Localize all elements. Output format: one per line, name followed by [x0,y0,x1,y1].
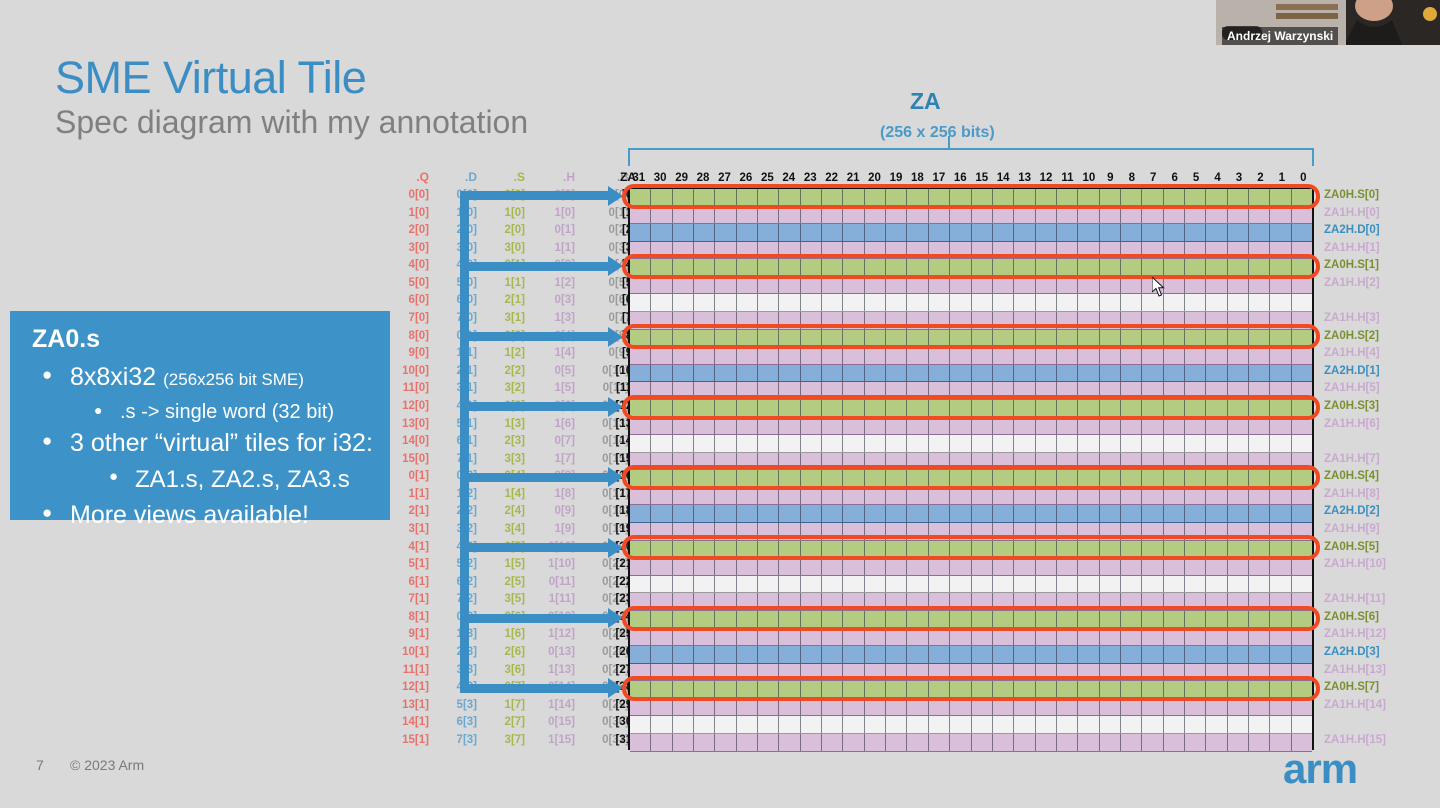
grid-cell [822,593,843,610]
spec-row: 9[0]1[1]1[2]1[4]0[9][9] [385,345,625,363]
column-number-18: 18 [907,170,928,186]
spec-row: 15[0]7[1]3[3]1[7]0[15][15] [385,451,625,469]
grid-cell [1036,259,1057,276]
grid-cell [1228,576,1249,593]
grid-cell [1185,699,1206,716]
spec-cell-h: 0[0] [531,187,575,205]
grid-cell [1100,488,1121,505]
spec-cell-s: 3[1] [485,310,525,328]
grid-cell [1249,259,1270,276]
grid-cell [737,699,758,716]
grid-cell [715,681,736,698]
spec-cell-q: 14[1] [385,714,429,732]
spec-row: 4[0]4[0]0[1]0[2]0[4][4] [385,257,625,275]
grid-cell [950,505,971,522]
grid-cell [1142,207,1163,224]
grid-cell [1100,734,1121,751]
grid-cell [907,259,928,276]
grid-cell [801,488,822,505]
grid-cell [737,277,758,294]
grid-cell [1100,294,1121,311]
grid-cell [758,505,779,522]
grid-cell [865,418,886,435]
grid-cell [1228,628,1249,645]
grid-cell [694,593,715,610]
grid-cell [1185,330,1206,347]
grid-cell [779,593,800,610]
grid-cell [673,664,694,681]
spec-cell-h: 1[11] [531,591,575,609]
grid-cell [758,611,779,628]
grid-cell [972,259,993,276]
grid-cell [972,699,993,716]
grid-cell [779,505,800,522]
grid-cell [1249,330,1270,347]
grid-cell [1185,382,1206,399]
grid-cell [1228,470,1249,487]
grid-cell [1249,523,1270,540]
grid-cell [993,418,1014,435]
grid-cell [993,347,1014,364]
grid-cell [972,646,993,663]
grid-cell [1292,593,1312,610]
grid-cell [907,382,928,399]
grid-cell [1142,347,1163,364]
grid-cell [1100,681,1121,698]
grid-cell [1292,382,1312,399]
grid-row-25 [630,628,1312,646]
grid-cell [779,277,800,294]
grid-cell [758,716,779,733]
grid-cell [1121,628,1142,645]
grid-cell [886,207,907,224]
grid-cell [1206,189,1227,206]
grid-cell [1292,453,1312,470]
grid-cell [1014,576,1035,593]
right-label-ZA1H.H[3]: ZA1H.H[3] [1324,310,1440,328]
spec-cell-s: 1[1] [485,275,525,293]
grid-cell [715,435,736,452]
grid-cell [822,242,843,259]
grid-cell [907,681,928,698]
grid-cell [907,294,928,311]
grid-cell [737,347,758,364]
spec-cell-q: 5[1] [385,556,429,574]
grid-cell [1057,664,1078,681]
grid-cell [779,576,800,593]
grid-cell [865,734,886,751]
grid-cell [651,347,672,364]
spec-cell-h: 0[9] [531,503,575,521]
grid-cell [843,242,864,259]
grid-cell [1100,312,1121,329]
grid-cell [1142,382,1163,399]
grid-cell [758,312,779,329]
grid-cell [950,312,971,329]
grid-cell [694,576,715,593]
grid-cell [1206,365,1227,382]
right-label-ZA1H.H[10]: ZA1H.H[10] [1324,556,1440,574]
grid-cell [1036,330,1057,347]
grid-cell [630,488,651,505]
spec-cell-q: 0[0] [385,187,429,205]
column-number-14: 14 [992,170,1013,186]
grid-cell [1270,259,1291,276]
grid-cell [630,664,651,681]
grid-cell [1078,470,1099,487]
grid-cell [1078,312,1099,329]
grid-cell [1228,189,1249,206]
grid-cell [1249,224,1270,241]
grid-cell [843,646,864,663]
grid-cell [843,681,864,698]
grid-cell [651,365,672,382]
grid-cell [865,330,886,347]
grid-cell [993,189,1014,206]
grid-cell [1249,418,1270,435]
grid-cell [843,312,864,329]
grid-cell [886,523,907,540]
grid-cell [801,418,822,435]
grid-cell [1164,523,1185,540]
grid-cell [886,294,907,311]
grid-cell [1164,294,1185,311]
grid-cell [630,382,651,399]
spec-cell-d: 6[2] [437,574,477,592]
grid-cell [801,576,822,593]
grid-cell [1206,224,1227,241]
page-subtitle: Spec diagram with my annotation [55,104,528,141]
grid-cell [1100,646,1121,663]
grid-cell [673,628,694,645]
grid-cell [1164,400,1185,417]
grid-cell [630,505,651,522]
grid-cell [1249,470,1270,487]
grid-cell [972,505,993,522]
grid-cell [993,681,1014,698]
grid-cell [1121,347,1142,364]
grid-cell [929,646,950,663]
spec-cell-s: 0[7] [485,679,525,697]
grid-cell [929,541,950,558]
right-label-ZA1H.H[5]: ZA1H.H[5] [1324,380,1440,398]
grid-cell [673,470,694,487]
spec-cell-h: 0[6] [531,398,575,416]
grid-cell [779,646,800,663]
grid-cell [1078,628,1099,645]
bullet-dot-icon: ● [42,365,52,385]
grid-cell [1078,207,1099,224]
grid-cell [737,611,758,628]
grid-cell [758,242,779,259]
right-label-ZA1H.H[11]: ZA1H.H[11] [1324,591,1440,609]
grid-cell [993,716,1014,733]
grid-cell [950,734,971,751]
grid-cell [651,541,672,558]
grid-cell [1078,576,1099,593]
grid-cell [651,558,672,575]
spec-cell-h: 1[2] [531,275,575,293]
grid-cell [1206,699,1227,716]
spec-cell-q: 14[0] [385,433,429,451]
grid-row-5 [630,277,1312,295]
grid-cell [1270,541,1291,558]
grid-cell [715,558,736,575]
grid-cell [673,207,694,224]
grid-cell [865,259,886,276]
grid-cell [950,330,971,347]
grid-cell [843,699,864,716]
grid-cell [1036,576,1057,593]
grid-cell [1270,628,1291,645]
grid-cell [1249,646,1270,663]
column-number-16: 16 [950,170,971,186]
grid-cell [1121,224,1142,241]
grid-cell [1078,365,1099,382]
grid-cell [758,277,779,294]
grid-cell [1121,277,1142,294]
grid-cell [630,628,651,645]
spec-cell-h: 0[5] [531,363,575,381]
grid-row-14 [630,435,1312,453]
spec-cell-d: 4[1] [437,398,477,416]
spec-row: 1[0]1[0]1[0]1[0]0[1][1] [385,205,625,223]
right-label-blank [1324,574,1440,592]
grid-cell [1164,681,1185,698]
grid-cell [737,400,758,417]
spec-cell-s: 3[4] [485,521,525,539]
grid-cell [1292,611,1312,628]
grid-cell [1249,294,1270,311]
grid-cell [651,646,672,663]
grid-cell [865,664,886,681]
spec-cell-h: 1[7] [531,451,575,469]
grid-cell [972,681,993,698]
grid-cell [715,259,736,276]
grid-cell [1057,628,1078,645]
grid-cell [1270,523,1291,540]
grid-cell [694,189,715,206]
grid-cell [715,294,736,311]
grid-cell [651,681,672,698]
grid-cell [673,259,694,276]
grid-cell [1036,681,1057,698]
grid-cell [1057,681,1078,698]
spec-cell-d: 5[1] [437,416,477,434]
grid-cell [779,347,800,364]
column-number-12: 12 [1035,170,1056,186]
grid-cell [1142,259,1163,276]
grid-cell [737,259,758,276]
grid-cell [993,365,1014,382]
grid-cell [843,277,864,294]
grid-cell [1164,312,1185,329]
grid-cell [1206,382,1227,399]
grid-cell [950,277,971,294]
grid-cell [779,716,800,733]
grid-cell [1249,189,1270,206]
grid-cell [993,699,1014,716]
grid-cell [1142,435,1163,452]
grid-cell [972,523,993,540]
grid-cell [1164,699,1185,716]
grid-cell [737,189,758,206]
grid-cell [1100,418,1121,435]
grid-cell [1078,734,1099,751]
grid-cell [1270,189,1291,206]
grid-cell [822,382,843,399]
grid-cell [801,277,822,294]
spec-row: 15[1]7[3]3[7]1[15]0[31][31] [385,732,625,750]
grid-cell [1142,734,1163,751]
page-title: SME Virtual Tile [55,52,366,104]
grid-cell [1164,224,1185,241]
grid-cell [1057,224,1078,241]
grid-cell [673,435,694,452]
spec-cell-s: 0[4] [485,468,525,486]
grid-cell [972,312,993,329]
grid-cell [1249,207,1270,224]
grid-cell [886,242,907,259]
spec-cell-s: 2[5] [485,574,525,592]
za-brace [628,148,1314,166]
grid-cell [1100,611,1121,628]
grid-cell [737,453,758,470]
grid-cell [1121,558,1142,575]
grid-cell [758,259,779,276]
spec-cell-h: 1[4] [531,345,575,363]
right-label-ZA1H.H[14]: ZA1H.H[14] [1324,697,1440,715]
grid-cell [972,470,993,487]
grid-cell [929,330,950,347]
spec-cell-q: 9[0] [385,345,429,363]
spec-row: 2[0]2[0]2[0]0[1]0[2][2] [385,222,625,240]
grid-cell [1036,277,1057,294]
spec-cell-d: 7[1] [437,451,477,469]
column-number-11: 11 [1057,170,1078,186]
grid-cell [865,716,886,733]
grid-cell [779,488,800,505]
spec-cell-d: 3[2] [437,521,477,539]
grid-cell [694,400,715,417]
grid-cell [1036,242,1057,259]
grid-cell [843,224,864,241]
callout-bullet-2: ● .s -> single word (32 bit) [120,401,334,424]
grid-row-4 [630,259,1312,277]
grid-cell [929,400,950,417]
grid-cell [1292,242,1312,259]
grid-cell [843,628,864,645]
spec-cell-q: 11[1] [385,662,429,680]
grid-cell [1142,365,1163,382]
spec-cell-h: 1[1] [531,240,575,258]
grid-row-12 [630,400,1312,418]
grid-cell [1014,400,1035,417]
grid-cell [694,312,715,329]
grid-cell [865,347,886,364]
grid-cell [886,365,907,382]
grid-cell [1036,505,1057,522]
grid-cell [1206,523,1227,540]
grid-cell [1249,628,1270,645]
grid-row-15 [630,453,1312,471]
grid-cell [1036,453,1057,470]
grid-cell [1292,488,1312,505]
spec-row: 0[0]0[0]0[0]0[0]0[0][0] [385,187,625,205]
grid-cell [1057,470,1078,487]
grid-cell [694,664,715,681]
grid-cell [1100,628,1121,645]
grid-cell [1142,224,1163,241]
spec-cell-s: 1[7] [485,697,525,715]
grid-cell [886,611,907,628]
grid-cell [886,418,907,435]
grid-cell [822,418,843,435]
spec-cell-d: 1[0] [437,205,477,223]
spec-cell-d: 0[2] [437,468,477,486]
grid-cell [822,558,843,575]
grid-cell [993,734,1014,751]
grid-cell [673,681,694,698]
spec-cell-q: 3[1] [385,521,429,539]
grid-cell [822,294,843,311]
grid-row-28 [630,681,1312,699]
grid-cell [1121,699,1142,716]
grid-cell [972,294,993,311]
grid-cell [1249,611,1270,628]
grid-cell [993,541,1014,558]
grid-cell [843,664,864,681]
grid-cell [673,576,694,593]
grid-cell [865,611,886,628]
spec-row: 6[0]6[0]2[1]0[3]0[6][6] [385,292,625,310]
spec-cell-h: 1[5] [531,380,575,398]
grid-cell [822,699,843,716]
grid-cell [651,699,672,716]
grid-cell [950,400,971,417]
grid-cell [1014,734,1035,751]
grid-cell [801,523,822,540]
grid-cell [907,664,928,681]
grid-cell [1249,699,1270,716]
grid-cell [1121,611,1142,628]
grid-cell [865,470,886,487]
grid-row-1 [630,207,1312,225]
column-number-24: 24 [778,170,799,186]
grid-cell [822,505,843,522]
column-number-22: 22 [821,170,842,186]
grid-cell [694,453,715,470]
grid-cell [630,734,651,751]
grid-cell [1057,242,1078,259]
spec-cell-q: 15[0] [385,451,429,469]
grid-cell [1270,611,1291,628]
spec-cell-d: 1[1] [437,345,477,363]
grid-cell [1164,189,1185,206]
grid-cell [694,541,715,558]
grid-cell [1100,699,1121,716]
grid-cell [1036,418,1057,435]
grid-cell [801,207,822,224]
grid-cell [1206,453,1227,470]
grid-cell [865,681,886,698]
grid-cell [1057,189,1078,206]
grid-cell [929,347,950,364]
spec-cell-h: 1[8] [531,486,575,504]
grid-cell [1270,681,1291,698]
column-number-7: 7 [1143,170,1164,186]
grid-cell [801,330,822,347]
